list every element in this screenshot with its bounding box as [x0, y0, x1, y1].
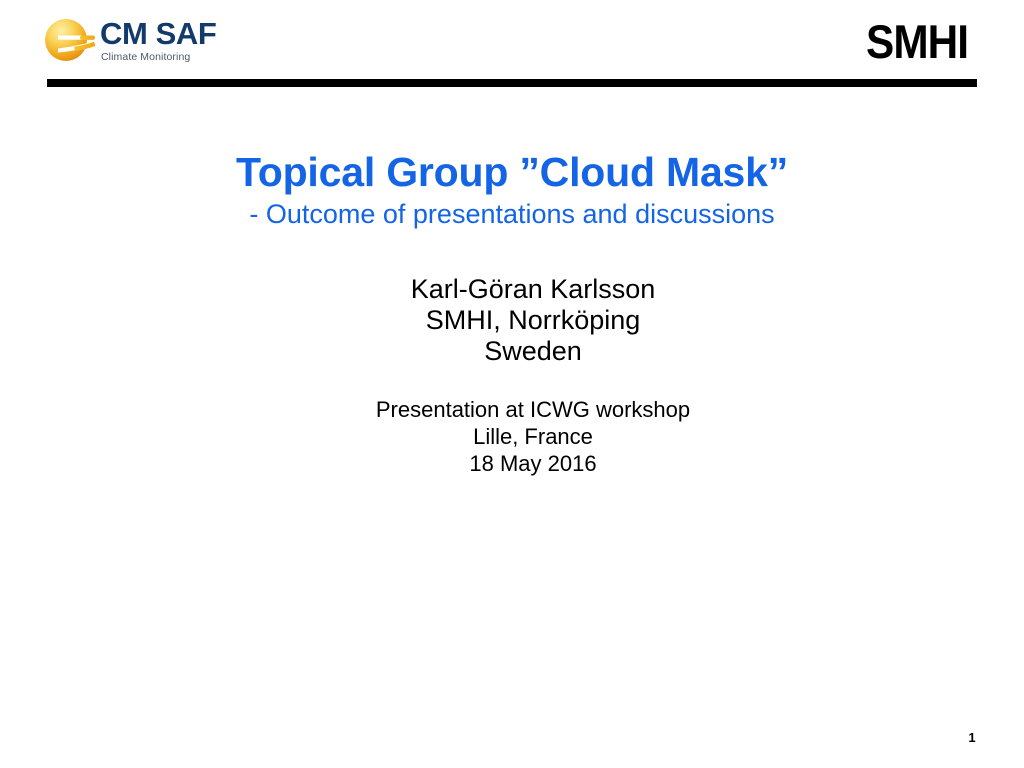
cmsaf-logo: CM SAF Climate Monitoring: [44, 13, 274, 75]
title-block: Topical Group ”Cloud Mask” - Outcome of …: [0, 148, 1024, 231]
author-block: Karl-Göran Karlsson SMHI, Norrköping Swe…: [21, 274, 1024, 367]
presentation-slide: CM SAF Climate Monitoring SMHI Topical G…: [0, 0, 1024, 768]
author-country: Sweden: [21, 336, 1024, 367]
page-subtitle: - Outcome of presentations and discussio…: [0, 197, 1024, 231]
author-name: Karl-Göran Karlsson: [21, 274, 1024, 305]
page-title: Topical Group ”Cloud Mask”: [0, 148, 1024, 196]
cmsaf-tagline: Climate Monitoring: [101, 51, 190, 64]
event-location: Lille, France: [21, 423, 1024, 450]
smhi-wordmark: SMHI: [866, 18, 968, 66]
cmsaf-sun-icon: [44, 15, 96, 65]
page-number: 1: [962, 730, 982, 745]
event-date: 18 May 2016: [21, 450, 1024, 477]
author-affiliation: SMHI, Norrköping: [21, 305, 1024, 336]
cmsaf-wordmark: CM SAF: [100, 17, 216, 51]
smhi-logo: SMHI: [866, 18, 978, 88]
event-block: Presentation at ICWG workshop Lille, Fra…: [21, 396, 1024, 477]
event-name: Presentation at ICWG workshop: [21, 396, 1024, 423]
header-divider-rule: [47, 79, 890, 87]
